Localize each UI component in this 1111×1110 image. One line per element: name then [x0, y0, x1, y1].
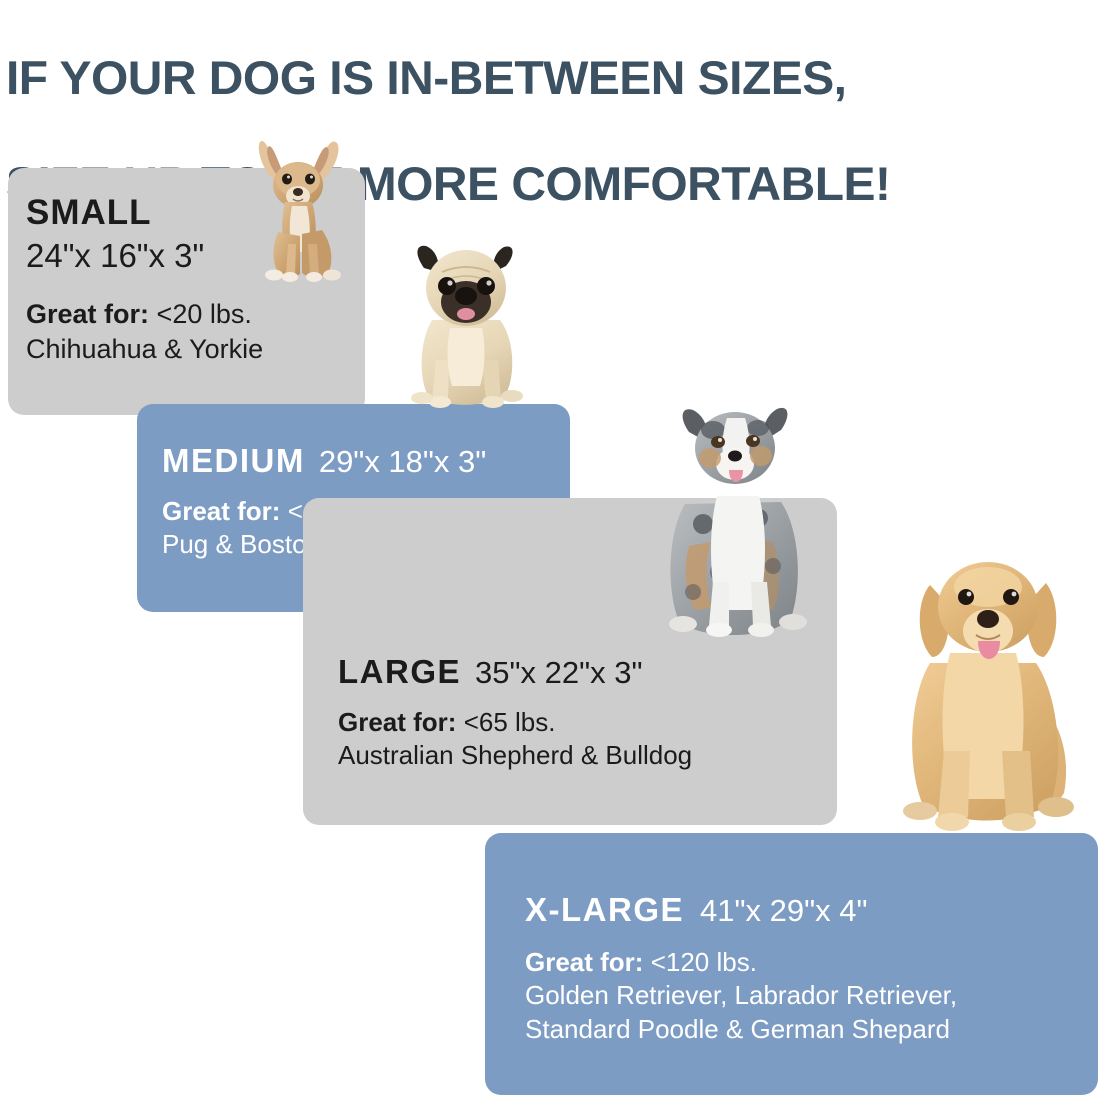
- size-card-xlarge-body: X-LARGE41"x 29"x 4" Great for: <120 lbs.…: [525, 893, 1095, 1047]
- size-card-medium-title-row: MEDIUM29"x 18"x 3": [162, 444, 567, 479]
- great-for-label-large: Great for:: [338, 707, 456, 737]
- size-breeds-xlarge-line2: Standard Poodle & German Shepard: [525, 1013, 1095, 1047]
- chihuahua-dog-photo: [248, 136, 360, 288]
- golden-retriever-dog-photo: [896, 545, 1092, 843]
- size-weight-large: <65 lbs.: [464, 707, 556, 737]
- size-card-xlarge-title-row: X-LARGE41"x 29"x 4": [525, 893, 1095, 928]
- size-card-large-title-row: LARGE35"x 22"x 3": [338, 655, 833, 690]
- size-name-large: LARGE: [338, 655, 461, 690]
- size-card-xlarge[interactable]: X-LARGE41"x 29"x 4" Great for: <120 lbs.…: [485, 833, 1098, 1095]
- great-for-label-small: Great for:: [26, 299, 149, 329]
- size-breeds-xlarge-line1: Golden Retriever, Labrador Retriever,: [525, 979, 1095, 1013]
- size-dimensions-xlarge: 41"x 29"x 4": [700, 895, 867, 928]
- pug-dog-photo: [402, 236, 530, 418]
- size-breeds-large: Australian Shepherd & Bulldog: [338, 739, 833, 773]
- australian-shepherd-dog-photo: [655, 396, 815, 652]
- size-weight-row-xlarge: Great for: <120 lbs.: [525, 946, 1095, 980]
- size-name-xlarge: X-LARGE: [525, 893, 684, 928]
- size-weight-row-small: Great for: <20 lbs.: [26, 297, 356, 332]
- headline-line-1: IF YOUR DOG IS IN-BETWEEN SIZES,: [6, 51, 1111, 104]
- great-for-label-medium: Great for:: [162, 496, 280, 526]
- size-weight-row-large: Great for: <65 lbs.: [338, 706, 833, 740]
- size-name-small: SMALL: [26, 195, 152, 232]
- size-weight-xlarge: <120 lbs.: [651, 947, 757, 977]
- size-weight-small: <20 lbs.: [157, 299, 252, 329]
- size-chart-graphic: IF YOUR DOG IS IN-BETWEEN SIZES, SIZE UP…: [0, 0, 1111, 1110]
- size-dimensions-medium: 29"x 18"x 3": [319, 446, 486, 479]
- size-card-large-body: LARGE35"x 22"x 3" Great for: <65 lbs. Au…: [338, 655, 833, 773]
- size-name-medium: MEDIUM: [162, 444, 305, 479]
- great-for-label-xlarge: Great for:: [525, 947, 643, 977]
- size-breeds-small: Chihuahua & Yorkie: [26, 332, 356, 367]
- size-dimensions-large: 35"x 22"x 3": [475, 657, 642, 690]
